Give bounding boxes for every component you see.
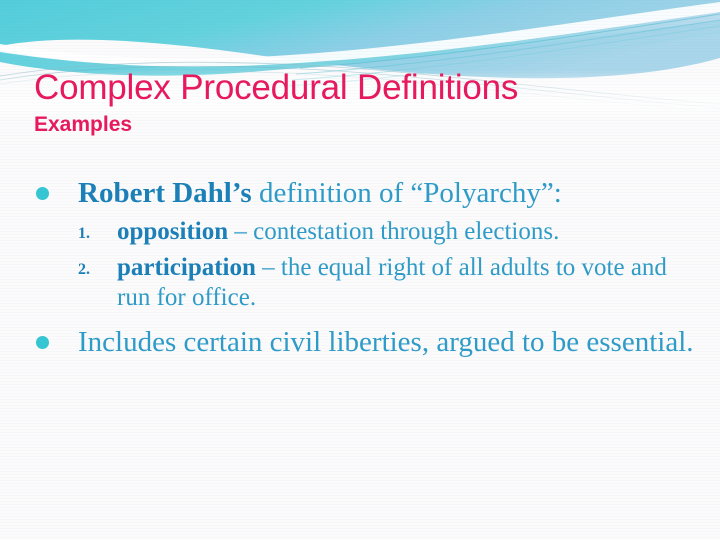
page-title: Complex Procedural Definitions: [34, 68, 518, 108]
list-item-text: Includes certain civil liberties, argued…: [78, 325, 696, 360]
list-number: 2.: [78, 260, 104, 280]
slide: Complex Procedural Definitions Examples …: [0, 0, 720, 540]
list-item: Includes certain civil liberties, argued…: [0, 325, 720, 360]
run-bold: opposition: [117, 218, 228, 245]
run-regular: Includes certain civil liberties, argued…: [78, 326, 694, 358]
list-item-text: Robert Dahl’s definition of “Polyarchy”:: [78, 176, 696, 211]
bullet-icon: [36, 187, 49, 200]
list-number: 1.: [78, 224, 104, 244]
list-item: Robert Dahl’s definition of “Polyarchy”:: [0, 176, 720, 211]
title-block: Complex Procedural Definitions Examples: [34, 68, 518, 138]
bullet-icon: [36, 336, 49, 349]
numbered-list-item: 1. opposition – contestation through ele…: [0, 217, 720, 247]
numbered-list-item: 2. participation – the equal right of al…: [0, 253, 720, 313]
run-bold: Robert Dahl’s: [78, 177, 252, 209]
run-regular: – contestation through elections.: [228, 218, 559, 245]
page-subtitle: Examples: [34, 112, 518, 138]
content-body: Robert Dahl’s definition of “Polyarchy”:…: [0, 176, 720, 362]
run-bold: participation: [117, 254, 256, 281]
list-item-text: opposition – contestation through electi…: [117, 217, 696, 247]
list-item-text: participation – the equal right of all a…: [117, 253, 696, 313]
run-regular: definition of “Polyarchy”:: [252, 177, 562, 209]
